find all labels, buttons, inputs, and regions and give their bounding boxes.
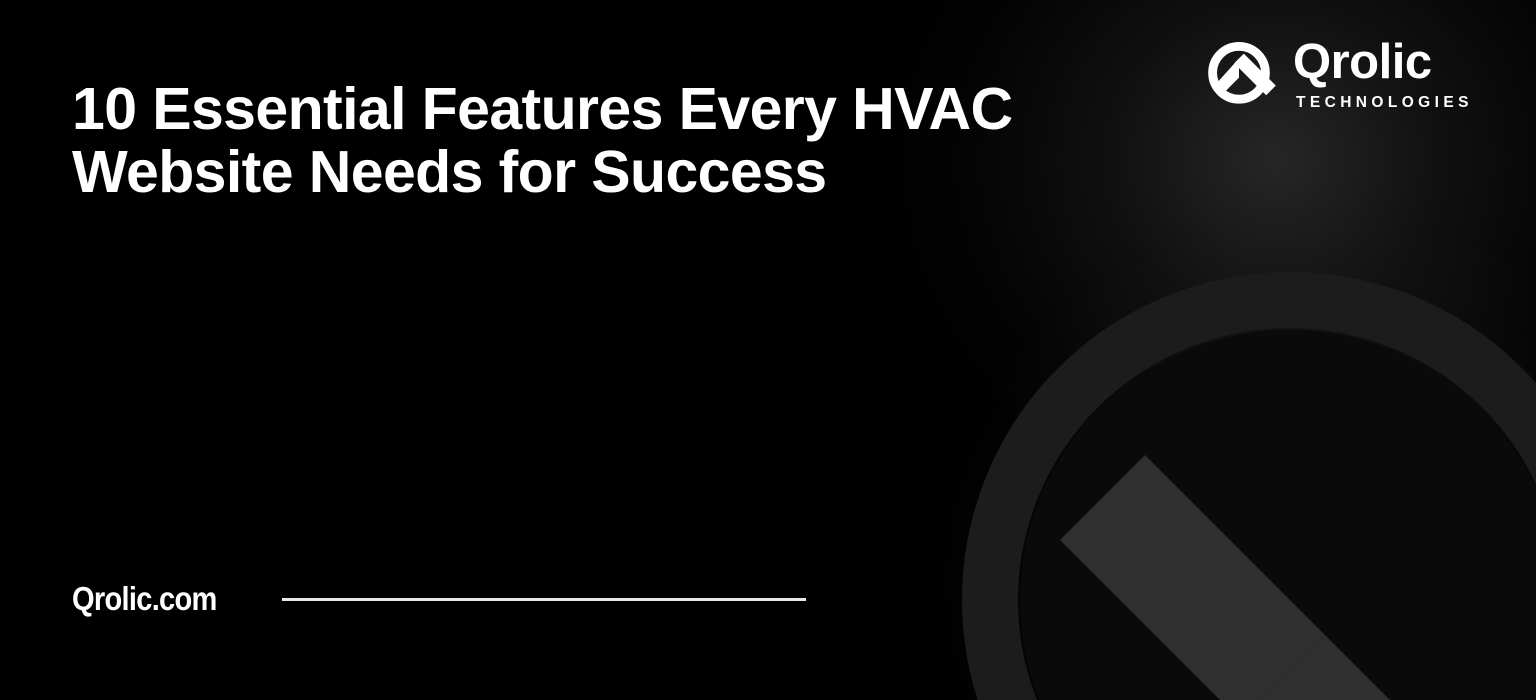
qrolic-logo-mark-icon [1199,36,1279,116]
watermark-logo [940,250,1536,700]
footer-website-url: Qrolic.com [72,580,217,618]
brand-lockup: Qrolic TECHNOLOGIES [1199,36,1473,116]
brand-name: Qrolic [1293,40,1473,85]
background-glow-bottom-right [936,220,1536,700]
footer: Qrolic.com [72,580,806,618]
page-title: 10 Essential Features Every HVAC Website… [72,78,1132,204]
footer-divider-rule [282,598,806,601]
cover-canvas: 10 Essential Features Every HVAC Website… [0,0,1536,700]
brand-wordmark: Qrolic TECHNOLOGIES [1293,40,1473,112]
brand-tagline: TECHNOLOGIES [1296,94,1473,112]
